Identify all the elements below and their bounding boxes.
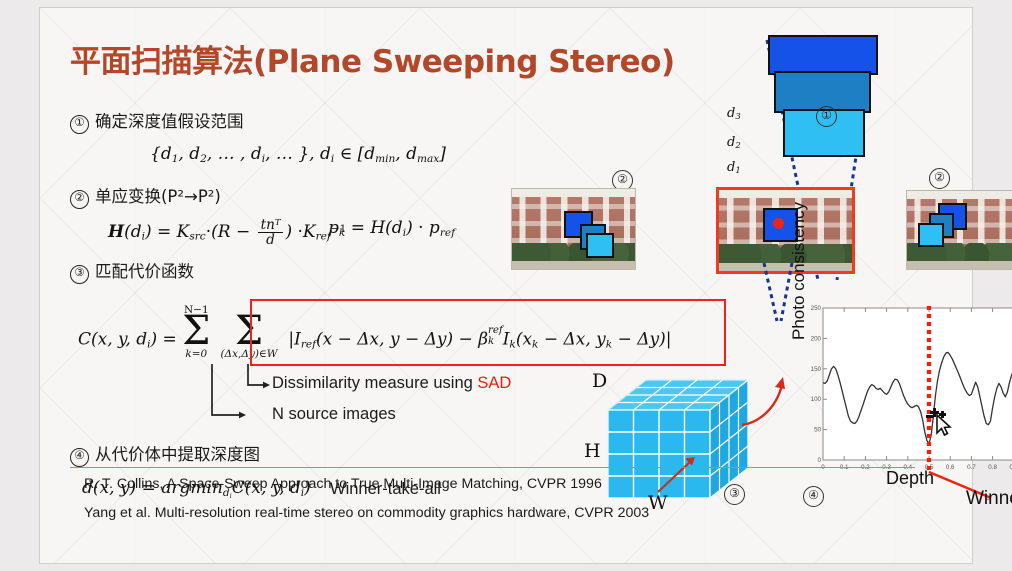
svg-text:0.6: 0.6 [946,464,955,471]
formula-homography: H(di) = Ksrc·(R − tnTd) ·Kref−1 [108,218,346,248]
chart-xlabel: Depth [886,468,934,489]
cost-volume-cube: D H W ③ [600,374,760,504]
reference-point-dot [773,218,784,229]
photo-shrubs [512,243,635,262]
chart-winner-label: Winner [966,488,1012,510]
step-4-label: 从代价体中提取深度图 [95,445,260,464]
step-3: ③匹配代价函数 [70,258,194,284]
patch-d1-left [586,233,614,258]
svg-text:100: 100 [811,396,822,403]
reference-divider [70,467,915,468]
step-4: ④从代价体中提取深度图 [70,441,260,467]
ref-photo-shrubs [719,244,852,263]
step-3-label: 匹配代价函数 [95,262,194,281]
marker-step-3: ③ [724,484,745,505]
page-title: 平面扫描算法(Plane Sweeping Stereo) [70,36,675,81]
step-2-label: 单应变换(P²→P²) [95,187,221,206]
patch-d1-right [918,223,944,247]
cube-label-depth: D [592,370,607,392]
cube-label-height: H [584,440,601,462]
photo-consistency-chart: Photo consistency 00.10.20.30.40.50.60.7… [791,300,1012,500]
annotation-dissimilarity: Dissimilarity measure using SAD [272,374,511,393]
sweep-plane-d3 [768,35,878,75]
plane-label-d3: d3 [727,106,741,121]
mouse-cursor [924,406,958,440]
reference-image [716,187,855,274]
cube-label-width: W [648,492,668,514]
step-1-number: ① [70,115,89,134]
step-2: ②单应变换(P²→P²) [70,183,221,209]
right-photo-ground [907,261,1012,269]
annotation-dissimilarity-text: Dissimilarity measure using [272,374,477,392]
plane-label-d1: d1 [727,160,741,175]
step-4-number: ④ [70,448,89,467]
step-3-number: ③ [70,265,89,284]
svg-text:150: 150 [811,366,822,373]
slide-canvas: 平面扫描算法(Plane Sweeping Stereo) ①确定深度值假设范围… [0,0,1012,571]
formula-cost-function: C(x, y, di) = N−1Σk=0 Σ(Δx,Δy)∈W |Iref(x… [78,305,671,360]
svg-text:0.8: 0.8 [988,464,997,471]
svg-text:250: 250 [811,305,822,312]
svg-text:50: 50 [814,427,821,434]
source-image-left [511,188,636,270]
marker-step-4: ④ [803,486,824,507]
sweep-planes-diagram: d3 d2 d1 ① [698,30,898,190]
svg-text:200: 200 [811,335,822,342]
chart-ylabel: Photo consistency [789,202,809,340]
marker-step-1: ① [816,106,837,127]
photo-ground [512,261,635,269]
slide-page: 平面扫描算法(Plane Sweeping Stereo) ①确定深度值假设范围… [40,8,972,563]
marker-step-2-right: ② [929,168,950,189]
svg-text:0: 0 [818,457,822,464]
svg-text:0.7: 0.7 [967,464,976,471]
annotation-sad: SAD [477,374,511,392]
formula-point-map: pk = H(di) · pref [328,218,455,239]
plane-label-d2: d2 [727,135,741,150]
step-1-label: 确定深度值假设范围 [95,112,244,131]
formula-depth-set: {d1, d2, … , di, … }, di ∈ [dmin, dmax] [150,144,446,165]
annotation-n-source: N source images [272,405,396,424]
reference-2: Yang et al. Multi-resolution real-time s… [84,505,649,521]
source-image-right [906,190,1012,270]
step-1: ①确定深度值假设范围 [70,108,244,134]
reference-1: R. T. Collins, A Space-Sweep Approach to… [84,476,602,492]
slide-content: 平面扫描算法(Plane Sweeping Stereo) ①确定深度值假设范围… [40,8,972,563]
step-2-number: ② [70,190,89,209]
